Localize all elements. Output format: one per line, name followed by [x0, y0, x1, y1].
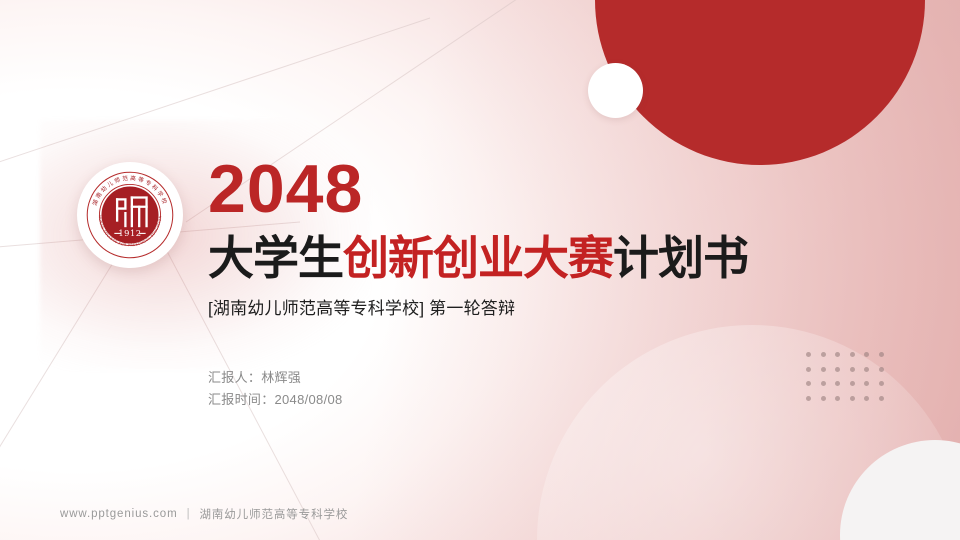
svg-text:1912: 1912 — [118, 228, 141, 238]
title-segment-3: 计划书 — [613, 232, 748, 284]
year-heading: 2048 — [208, 152, 898, 226]
page-title: 大学生创新创业大赛计划书 — [208, 232, 898, 284]
footer: www.pptgenius.com | 湖南幼儿师范高等专科学校 — [60, 506, 348, 522]
footer-separator: | — [187, 508, 191, 520]
footer-website[interactable]: www.pptgenius.com — [60, 508, 178, 520]
white-dot-decoration — [588, 63, 643, 118]
presenter-name: 汇报人：林辉强 — [208, 367, 898, 389]
subtitle: [湖南幼儿师范高等专科学校] 第一轮答辩 — [208, 297, 898, 321]
title-block: 2048 大学生创新创业大赛计划书 [湖南幼儿师范高等专科学校] 第一轮答辩 汇… — [208, 152, 898, 411]
title-segment-1: 大学生 — [208, 232, 343, 284]
presenter-meta: 汇报人：林辉强 汇报时间：2048/08/08 — [208, 367, 898, 411]
footer-organization: 湖南幼儿师范高等专科学校 — [199, 506, 348, 522]
presentation-slide: 湖南幼儿师范高等专科学校 HUNAN COLLEGE FOR PRESCHOOL… — [0, 0, 960, 540]
university-crest-icon: 湖南幼儿师范高等专科学校 HUNAN COLLEGE FOR PRESCHOOL… — [84, 169, 176, 261]
university-logo: 湖南幼儿师范高等专科学校 HUNAN COLLEGE FOR PRESCHOOL… — [77, 162, 183, 268]
presentation-date: 汇报时间：2048/08/08 — [208, 389, 898, 411]
title-segment-2: 创新创业大赛 — [343, 232, 613, 284]
